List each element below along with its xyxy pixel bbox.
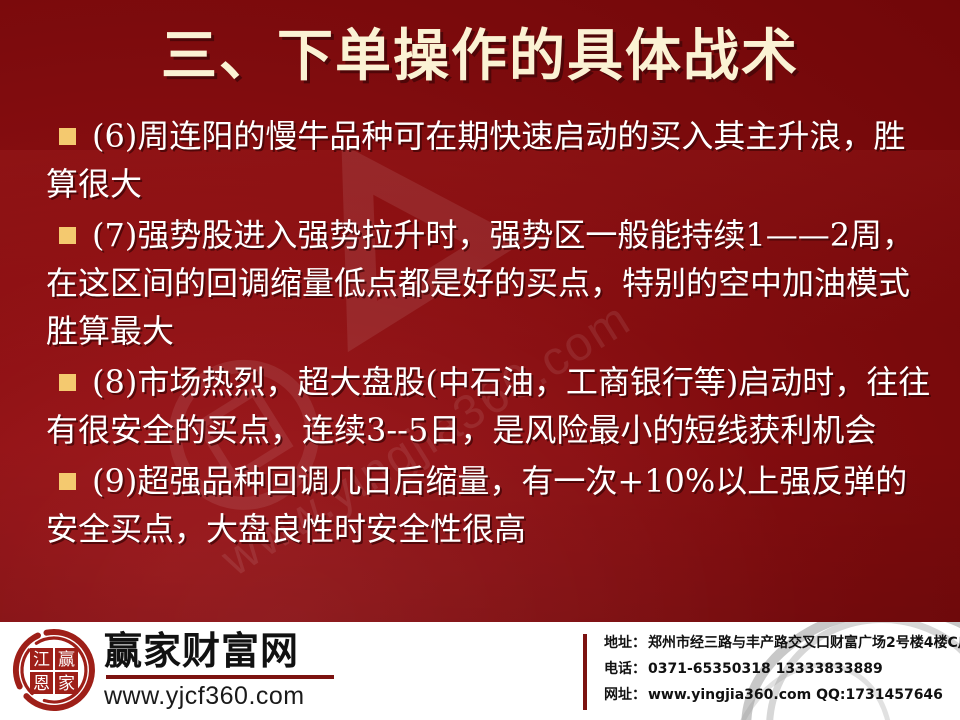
bullet-text-8: (8)市场热烈，超大盘股(中石油，工商银行等)启动时，往往有很安全的买点，连续3… (46, 363, 930, 449)
seal-char-1: 江 (33, 650, 50, 670)
contact-website-label: 网址： (604, 687, 646, 703)
brand-url[interactable]: www.yjcf360.com (104, 681, 544, 711)
contact-phone-label: 电话： (604, 661, 646, 677)
bullet-text-7: (7)强势股进入强势拉升时，强势区一般能持续1——2周，在这区间的回调缩量低点都… (46, 216, 914, 350)
seal-logo-icon: 江 赢 恩 家 (12, 628, 96, 714)
seal-char-2: 赢 (58, 650, 75, 670)
seal-char-3: 恩 (33, 674, 50, 694)
bullet-list: (6)周连阳的慢牛品种可在期快速启动的买入其主升浪，胜算很大 (7)强势股进入强… (46, 112, 936, 556)
contact-website: 网址：www.yingjia360.com QQ:1731457646 (604, 682, 954, 708)
bullet-item-6: (6)周连阳的慢牛品种可在期快速启动的买入其主升浪，胜算很大 (46, 112, 936, 208)
seal-char-4: 家 (58, 674, 75, 694)
brand-block: 赢家财富网 www.yjcf360.com (104, 630, 544, 711)
contact-address: 地址：郑州市经三路与丰产路交叉口财富广场2号楼4楼C户 (604, 630, 954, 656)
bullet-item-8: (8)市场热烈，超大盘股(中石油，工商银行等)启动时，往往有很安全的买点，连续3… (46, 358, 936, 454)
contact-website-value[interactable]: www.yingjia360.com QQ:1731457646 (648, 687, 943, 703)
contact-address-label: 地址： (604, 635, 646, 651)
contact-block: 地址：郑州市经三路与丰产路交叉口财富广场2号楼4楼C户 电话：0371-6535… (604, 630, 954, 708)
slide-root: www.yingjia360.com 三、下单操作的具体战术 (6)周连阳的慢牛… (0, 0, 960, 720)
bullet-item-7: (7)强势股进入强势拉升时，强势区一般能持续1——2周，在这区间的回调缩量低点都… (46, 211, 936, 355)
brand-divider (106, 675, 334, 679)
contact-address-value: 郑州市经三路与丰产路交叉口财富广场2号楼4楼C户 (648, 635, 960, 651)
bullet-square-icon (59, 374, 76, 391)
bullet-square-icon (59, 128, 76, 145)
bullet-text-9: (9)超强品种回调几日后缩量，有一次+10%以上强反弹的安全买点，大盘良性时安全… (46, 462, 907, 548)
contact-phone: 电话：0371-65350318 13333833889 (604, 656, 954, 682)
slide-title: 三、下单操作的具体战术 (0, 24, 960, 88)
bullet-item-9: (9)超强品种回调几日后缩量，有一次+10%以上强反弹的安全买点，大盘良性时安全… (46, 457, 936, 553)
slide-background: www.yingjia360.com 三、下单操作的具体战术 (6)周连阳的慢牛… (0, 0, 960, 622)
bullet-square-icon (59, 473, 76, 490)
brand-name: 赢家财富网 (104, 630, 544, 672)
footer-vertical-divider (583, 634, 587, 710)
bullet-square-icon (59, 227, 76, 244)
contact-phone-value: 0371-65350318 13333833889 (648, 661, 883, 677)
bullet-text-6: (6)周连阳的慢牛品种可在期快速启动的买入其主升浪，胜算很大 (46, 117, 905, 203)
